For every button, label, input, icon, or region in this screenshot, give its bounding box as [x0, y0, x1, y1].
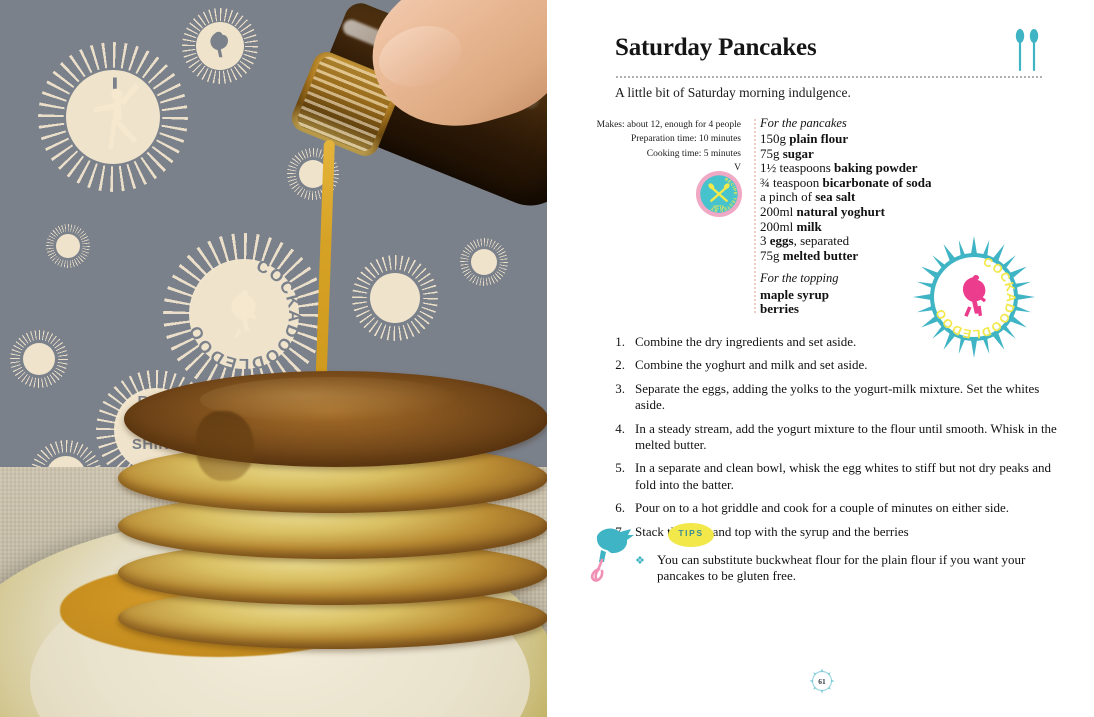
meta-cooking-time: Cooking time: 5 minutes	[577, 147, 741, 161]
tip-bullet-icon: ❖	[635, 552, 657, 585]
syrup-drip	[196, 411, 254, 481]
dancer-figure-icon	[66, 70, 160, 164]
tip-text: You can substitute buckwheat flour for t…	[657, 552, 1055, 585]
page-title: Saturday Pancakes	[615, 34, 816, 62]
meta-makes: Makes: about 12, enough for 4 people	[577, 118, 741, 132]
tip-item: ❖ You can substitute buckwheat flour for…	[635, 552, 1055, 585]
method-steps: 1. Combine the dry ingredients and set a…	[609, 334, 1059, 547]
ingredient-item: 1½ teaspoons baking powder	[760, 161, 990, 176]
page-number-text: 61	[809, 668, 835, 694]
page-number: 61	[809, 668, 835, 694]
rooster-icon	[196, 22, 244, 70]
sun-motif-small-c	[460, 238, 508, 286]
rooster-icon	[215, 283, 273, 345]
ingredients-heading: For the pancakes	[760, 116, 990, 131]
sun-motif-rooster-small	[182, 8, 258, 84]
method-step: 6. Pour on to a hot griddle and cook for…	[609, 500, 1059, 516]
method-step: 4. In a steady stream, add the yogurt mi…	[609, 421, 1059, 454]
ingredient-item: 200ml milk	[760, 220, 990, 235]
recipe-meta: Makes: about 12, enough for 4 people Pre…	[577, 118, 741, 176]
sun-motif-small-b	[352, 255, 438, 341]
sun-motif-dancer-top-left	[38, 42, 188, 192]
method-step: 2. Combine the yoghurt and milk and set …	[609, 357, 1059, 373]
recipe-blurb: A little bit of Saturday morning indulge…	[615, 85, 851, 101]
sun-motif-small-e	[10, 330, 68, 388]
method-step: 3. Separate the eggs, adding the yolks t…	[609, 381, 1059, 414]
ingredient-item: 75g sugar	[760, 147, 990, 162]
ingredients-divider	[754, 118, 756, 313]
two-spoons-icon	[1012, 27, 1042, 73]
ingredient-item: 150g plain flour	[760, 132, 990, 147]
ingredient-item: ¾ teaspoon bicarbonate of soda	[760, 176, 990, 191]
recipe-photo: COCKADOODLEDOO RISE & SHINE	[0, 0, 547, 717]
svg-text:PETA: PETA	[713, 204, 724, 209]
recipe-page: Saturday Pancakes A little bit of Saturd…	[547, 0, 1094, 717]
bird-with-whisk-icon	[587, 520, 639, 582]
method-step: 5. In a separate and clean bowl, whisk t…	[609, 460, 1059, 493]
pancake-stack	[118, 339, 547, 649]
sun-motif-small-d	[46, 224, 90, 268]
recipe-tested-badge: RECIPE TESTED BY PETA	[695, 170, 743, 218]
tips-label: TIPS	[667, 528, 715, 538]
title-divider	[615, 76, 1042, 78]
meta-preparation-time: Preparation time: 10 minutes	[577, 132, 741, 146]
ingredient-item: 200ml natural yoghurt	[760, 205, 990, 220]
ingredient-item: a pinch of sea salt	[760, 190, 990, 205]
method-step: 1. Combine the dry ingredients and set a…	[609, 334, 1059, 350]
